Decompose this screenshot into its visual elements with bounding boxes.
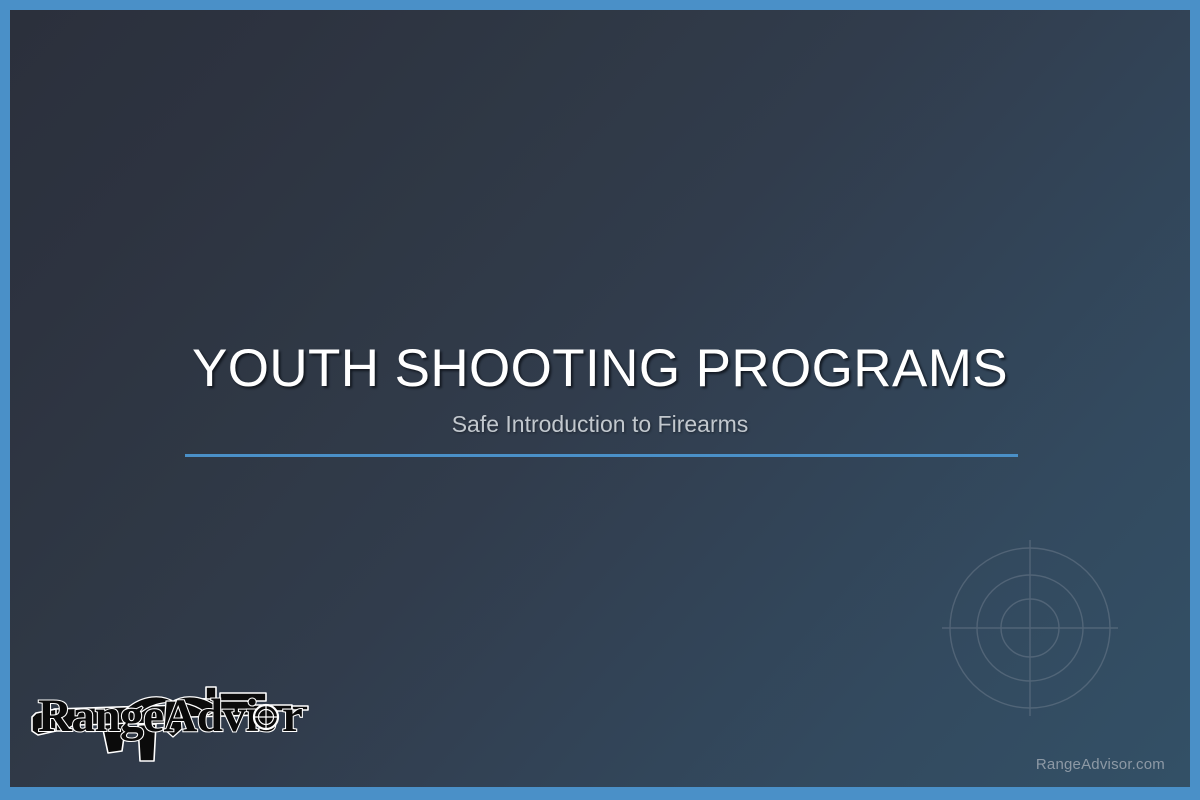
- title-block: YOUTH SHOOTING PROGRAMS Safe Introductio…: [10, 340, 1190, 439]
- brand-wordmark: RangeAdvis: [38, 690, 276, 742]
- page-subtitle: Safe Introduction to Firearms: [10, 411, 1190, 439]
- brand-wordmark-tail: r: [282, 690, 302, 742]
- scope-reticle-icon: [254, 705, 278, 729]
- accent-divider: [185, 454, 1018, 457]
- brand-logo: RangeAdvis r: [30, 665, 315, 777]
- target-crosshair-icon: [930, 528, 1130, 728]
- presentation-slide: YOUTH SHOOTING PROGRAMS Safe Introductio…: [0, 0, 1200, 800]
- slide-canvas: YOUTH SHOOTING PROGRAMS Safe Introductio…: [10, 10, 1190, 787]
- footer-url: RangeAdvisor.com: [1036, 756, 1165, 773]
- page-title: YOUTH SHOOTING PROGRAMS: [10, 340, 1190, 397]
